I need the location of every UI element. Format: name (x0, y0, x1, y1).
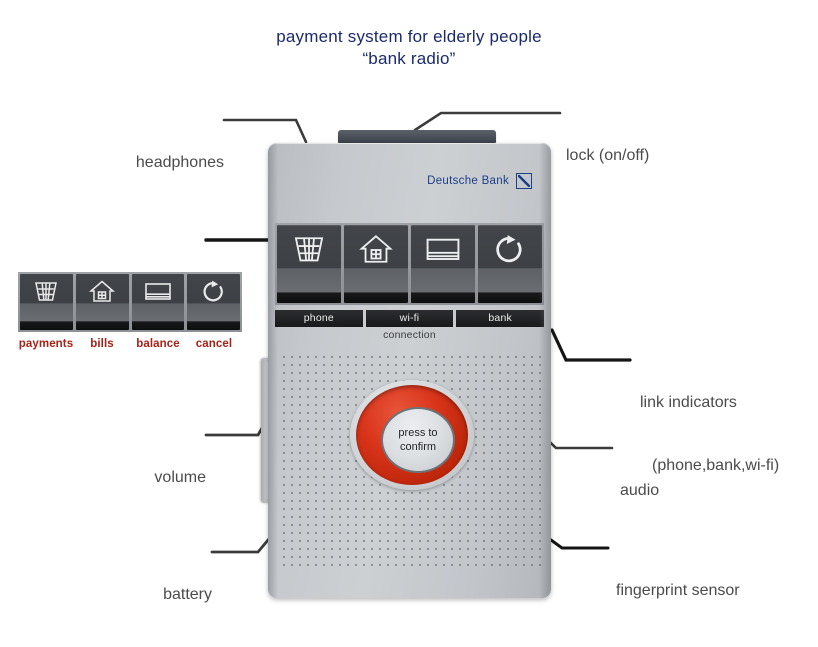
legend-button-cancel[interactable] (187, 274, 240, 330)
house-icon (359, 225, 393, 266)
confirm-label-line2: confirm (400, 441, 436, 453)
deutsche-bank-wordmark: Deutsche Bank (427, 175, 509, 187)
confirm-button-assembly[interactable]: press to confirm (350, 380, 474, 490)
legend-panel: payments bills balance cancel (18, 272, 242, 350)
link-indicator-wifi[interactable]: wi-fi (366, 310, 454, 327)
operation-button-cancel[interactable] (478, 225, 542, 303)
annotation-volume-label: volume (96, 467, 206, 488)
confirm-outer-bezel: press to confirm (350, 380, 474, 490)
legend-label-cancel: cancel (186, 338, 242, 350)
legend-button-balance[interactable] (132, 274, 185, 330)
annotation-battery-label: battery (100, 584, 212, 605)
operation-button-payments[interactable] (277, 225, 341, 303)
confirm-button-label: press to confirm (398, 426, 437, 454)
legend-label-balance: balance (130, 338, 186, 350)
card-icon (425, 225, 461, 266)
house-icon (89, 274, 115, 304)
bank-operations-row (275, 223, 544, 305)
legend-label-payments: payments (18, 338, 74, 350)
annotation-headphones-label: headphones (74, 152, 224, 173)
legend-label-bills: bills (74, 338, 130, 350)
basket-icon (292, 225, 326, 266)
link-indicator-phone[interactable]: phone (275, 310, 363, 327)
confirm-red-ring: press to confirm (356, 385, 468, 485)
annotation-link-indicators: link indicators (phone,bank,wi-fi) (640, 350, 779, 518)
annotation-battery: battery (100, 542, 212, 647)
device-body: Deutsche Bank (268, 143, 551, 598)
annotation-fingerprint-sensor: fingerprint sensor (616, 538, 740, 643)
annotation-link-indicators-sublabel: (phone,bank,wi-fi) (640, 455, 779, 476)
legend-button-row (18, 272, 242, 332)
annotation-audio: audio (620, 438, 659, 543)
annotation-lock: lock (on/off) (566, 103, 649, 208)
annotation-lock-label: lock (on/off) (566, 145, 649, 166)
link-indicator-row: phone wi-fi bank (275, 310, 544, 327)
link-indicator-bank[interactable]: bank (456, 310, 544, 327)
refresh-icon (493, 225, 527, 266)
connection-caption: connection (275, 329, 544, 341)
annotation-link-indicators-label: link indicators (640, 392, 779, 413)
refresh-icon (201, 274, 227, 304)
annotation-headphones: headphones (74, 110, 224, 215)
page-title-line2: “bank radio” (0, 48, 818, 70)
operation-button-bills[interactable] (344, 225, 408, 303)
legend-button-payments[interactable] (20, 274, 73, 330)
annotation-audio-label: audio (620, 480, 659, 501)
poster-canvas: payment system for elderly people “bank … (0, 0, 818, 614)
press-to-confirm-button[interactable]: press to confirm (381, 407, 455, 473)
lock-bar[interactable] (338, 130, 496, 143)
deutsche-bank-logo: Deutsche Bank (427, 173, 532, 189)
legend-button-bills[interactable] (76, 274, 129, 330)
annotation-fingerprint-sensor-label: fingerprint sensor (616, 580, 740, 601)
annotation-volume: volume (96, 425, 206, 530)
page-title: payment system for elderly people “bank … (0, 26, 818, 70)
page-title-line1: payment system for elderly people (0, 26, 818, 48)
confirm-label-line1: press to (398, 427, 437, 439)
operation-button-balance[interactable] (411, 225, 475, 303)
card-icon (144, 274, 172, 304)
db-slash-mark-icon (516, 173, 532, 189)
legend-label-row: payments bills balance cancel (18, 338, 242, 350)
basket-icon (33, 274, 59, 304)
